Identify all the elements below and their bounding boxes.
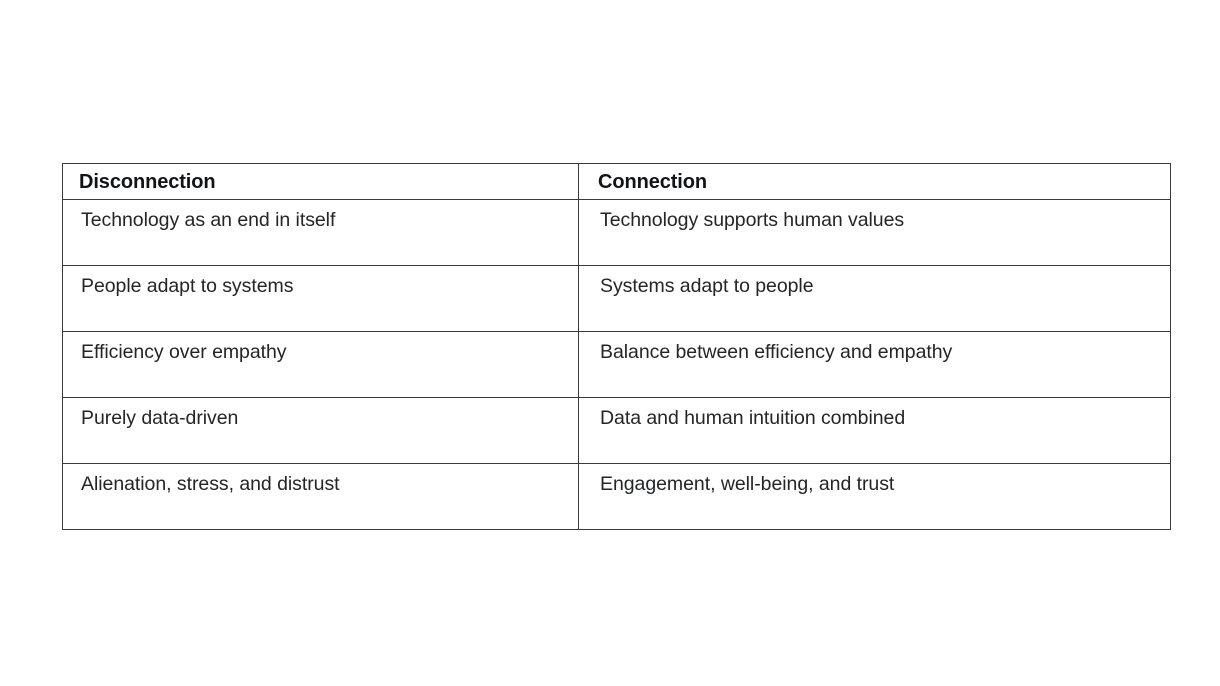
- table-header-row: Disconnection Connection: [63, 164, 1171, 200]
- table-row: Technology as an end in itself Technolog…: [63, 200, 1171, 266]
- cell-connection: Data and human intuition combined: [579, 398, 1171, 464]
- cell-connection: Technology supports human values: [579, 200, 1171, 266]
- cell-text: Balance between efficiency and empathy: [579, 332, 1170, 365]
- cell-disconnection: Technology as an end in itself: [63, 200, 579, 266]
- cell-connection: Engagement, well-being, and trust: [579, 464, 1171, 530]
- table-body: Technology as an end in itself Technolog…: [63, 200, 1171, 530]
- cell-text: Purely data-driven: [63, 398, 578, 431]
- table-row: Purely data-driven Data and human intuit…: [63, 398, 1171, 464]
- cell-disconnection: People adapt to systems: [63, 266, 579, 332]
- cell-text: Data and human intuition combined: [579, 398, 1170, 431]
- column-header-label: Disconnection: [63, 164, 578, 195]
- column-header-label: Connection: [579, 164, 1170, 195]
- cell-text: Technology supports human values: [579, 200, 1170, 233]
- table-row: Alienation, stress, and distrust Engagem…: [63, 464, 1171, 530]
- cell-disconnection: Alienation, stress, and distrust: [63, 464, 579, 530]
- comparison-table: Disconnection Connection Technology as a…: [62, 163, 1171, 530]
- cell-text: Technology as an end in itself: [63, 200, 578, 233]
- cell-connection: Balance between efficiency and empathy: [579, 332, 1171, 398]
- column-header-connection: Connection: [579, 164, 1171, 200]
- page-canvas: Disconnection Connection Technology as a…: [0, 0, 1220, 686]
- cell-text: People adapt to systems: [63, 266, 578, 299]
- column-header-disconnection: Disconnection: [63, 164, 579, 200]
- table-row: Efficiency over empathy Balance between …: [63, 332, 1171, 398]
- cell-connection: Systems adapt to people: [579, 266, 1171, 332]
- cell-disconnection: Efficiency over empathy: [63, 332, 579, 398]
- cell-disconnection: Purely data-driven: [63, 398, 579, 464]
- cell-text: Efficiency over empathy: [63, 332, 578, 365]
- cell-text: Systems adapt to people: [579, 266, 1170, 299]
- cell-text: Alienation, stress, and distrust: [63, 464, 578, 497]
- table-header: Disconnection Connection: [63, 164, 1171, 200]
- cell-text: Engagement, well-being, and trust: [579, 464, 1170, 497]
- table-row: People adapt to systems Systems adapt to…: [63, 266, 1171, 332]
